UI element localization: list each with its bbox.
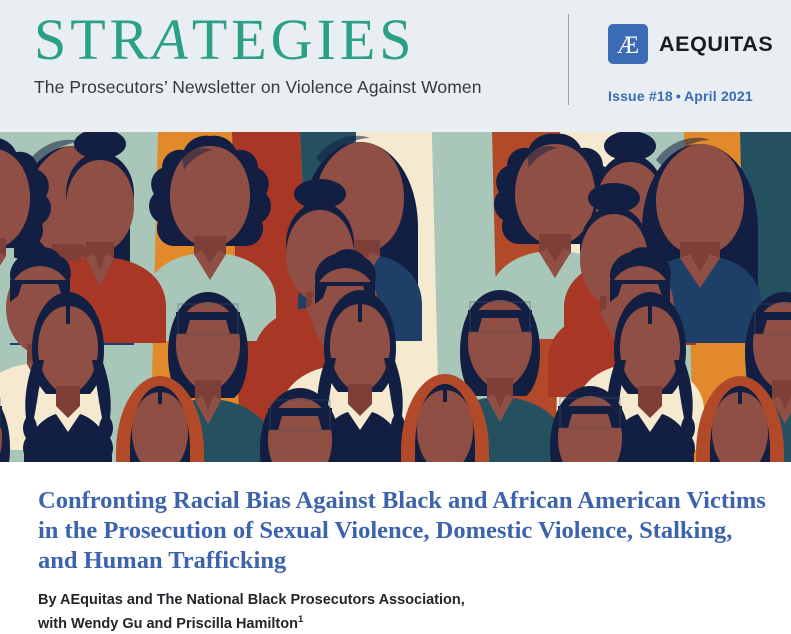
article-byline-line-1: By AEquitas and The National Black Prose… bbox=[38, 590, 758, 610]
publication-tagline: The Prosecutors’ Newsletter on Violence … bbox=[34, 76, 554, 98]
masthead-vertical-divider bbox=[568, 14, 569, 105]
footnote-marker: 1 bbox=[298, 614, 303, 625]
aequitas-logo[interactable]: Æ AEQUITAS bbox=[608, 24, 773, 64]
issue-separator-dot: • bbox=[673, 88, 684, 104]
wordmark-part-1: STR bbox=[34, 7, 152, 72]
masthead-header: STRATEGIES The Prosecutors’ Newsletter o… bbox=[0, 0, 791, 132]
brand-block: STRATEGIES The Prosecutors’ Newsletter o… bbox=[34, 8, 554, 98]
svg-text:Æ: Æ bbox=[617, 32, 639, 59]
aequitas-ae-ligature-icon: Æ bbox=[608, 24, 648, 64]
newsletter-cover-page: STRATEGIES The Prosecutors’ Newsletter o… bbox=[0, 0, 791, 619]
article-byline-authors: with Wendy Gu and Priscilla Hamilton bbox=[38, 616, 298, 632]
article-title-line-3: and Human Trafficking bbox=[38, 546, 758, 576]
article-title-line-1: Confronting Racial Bias Against Black an… bbox=[38, 486, 758, 516]
article-title: Confronting Racial Bias Against Black an… bbox=[38, 486, 758, 576]
wordmark-italic-a: A bbox=[152, 7, 191, 72]
article-title-line-2: in the Prosecution of Sexual Violence, D… bbox=[38, 516, 758, 546]
publication-wordmark: STRATEGIES bbox=[34, 8, 554, 72]
article-byline-line-2: with Wendy Gu and Priscilla Hamilton1 bbox=[38, 610, 758, 634]
issue-date: April 2021 bbox=[684, 88, 753, 104]
cover-illustration bbox=[0, 132, 791, 462]
wordmark-part-2: TEGIES bbox=[192, 7, 416, 72]
article-byline: By AEquitas and The National Black Prose… bbox=[38, 590, 758, 634]
issue-info: Issue #18•April 2021 bbox=[608, 88, 753, 104]
aequitas-wordmark: AEQUITAS bbox=[659, 32, 773, 57]
issue-number: Issue #18 bbox=[608, 88, 673, 104]
article-header: Confronting Racial Bias Against Black an… bbox=[38, 486, 758, 634]
